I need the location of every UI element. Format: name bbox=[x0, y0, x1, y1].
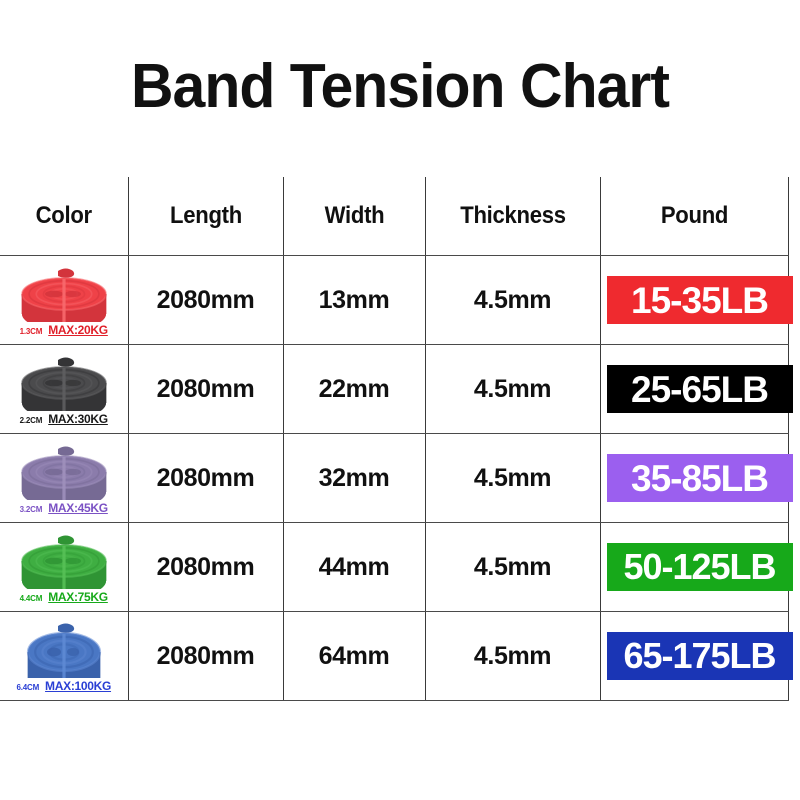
band-width-cm: 4.4CM bbox=[20, 594, 43, 603]
band-max-load: MAX:75KG bbox=[48, 590, 108, 604]
table-row: 1.3CM MAX:20KG 2080mm 13mm 4.5mm 15-35LB bbox=[0, 256, 788, 345]
band-illustration-blue bbox=[8, 620, 120, 678]
cell-thickness: 4.5mm bbox=[425, 345, 600, 434]
thickness-value: 4.5mm bbox=[426, 286, 600, 315]
column-header-pound-label: Pound bbox=[608, 202, 780, 230]
cell-width: 32mm bbox=[283, 434, 425, 523]
thickness-value: 4.5mm bbox=[426, 464, 600, 493]
width-value: 32mm bbox=[284, 464, 425, 493]
cell-color: 6.4CM MAX:100KG bbox=[0, 612, 128, 701]
column-header-length-label: Length bbox=[135, 202, 277, 230]
width-value: 44mm bbox=[284, 553, 425, 582]
thickness-value: 4.5mm bbox=[426, 553, 600, 582]
band-max-load: MAX:20KG bbox=[48, 323, 108, 337]
cell-length: 2080mm bbox=[128, 434, 283, 523]
band-size-label: 4.4CM MAX:75KG bbox=[20, 590, 108, 604]
band-size-label: 3.2CM MAX:45KG bbox=[20, 501, 108, 515]
pound-badge: 65-175LB bbox=[607, 632, 793, 680]
table-row: 2.2CM MAX:30KG 2080mm 22mm 4.5mm 25-65LB bbox=[0, 345, 788, 434]
band-illustration-green bbox=[8, 531, 120, 589]
column-header-thickness-label: Thickness bbox=[432, 202, 592, 230]
cell-length: 2080mm bbox=[128, 345, 283, 434]
table-row: 4.4CM MAX:75KG 2080mm 44mm 4.5mm 50-125L… bbox=[0, 523, 788, 612]
band-tension-chart-page: Band Tension Chart Color Length Width Th… bbox=[0, 0, 800, 800]
length-value: 2080mm bbox=[129, 375, 283, 404]
pound-badge: 25-65LB bbox=[607, 365, 793, 413]
column-header-length: Length bbox=[128, 177, 283, 256]
length-value: 2080mm bbox=[129, 642, 283, 671]
length-value: 2080mm bbox=[129, 464, 283, 493]
cell-pound: 50-125LB bbox=[600, 523, 788, 612]
cell-thickness: 4.5mm bbox=[425, 612, 600, 701]
band-illustration-red bbox=[8, 264, 120, 322]
cell-color: 2.2CM MAX:30KG bbox=[0, 345, 128, 434]
cell-width: 44mm bbox=[283, 523, 425, 612]
cell-pound: 15-35LB bbox=[600, 256, 788, 345]
width-value: 64mm bbox=[284, 642, 425, 671]
band-swatch-green: 4.4CM MAX:75KG bbox=[0, 531, 128, 604]
column-header-thickness: Thickness bbox=[425, 177, 600, 256]
thickness-value: 4.5mm bbox=[426, 375, 600, 404]
band-max-load: MAX:100KG bbox=[45, 679, 111, 693]
band-size-label: 6.4CM MAX:100KG bbox=[16, 679, 111, 693]
cell-thickness: 4.5mm bbox=[425, 434, 600, 523]
table-row: 3.2CM MAX:45KG 2080mm 32mm 4.5mm 35-85LB bbox=[0, 434, 788, 523]
cell-length: 2080mm bbox=[128, 256, 283, 345]
column-header-width: Width bbox=[283, 177, 425, 256]
cell-length: 2080mm bbox=[128, 612, 283, 701]
band-swatch-black: 2.2CM MAX:30KG bbox=[0, 353, 128, 426]
band-width-cm: 6.4CM bbox=[16, 683, 39, 692]
cell-pound: 35-85LB bbox=[600, 434, 788, 523]
band-width-cm: 1.3CM bbox=[20, 327, 43, 336]
column-header-width-label: Width bbox=[289, 202, 419, 230]
cell-width: 13mm bbox=[283, 256, 425, 345]
band-width-cm: 2.2CM bbox=[20, 416, 43, 425]
band-illustration-black bbox=[8, 353, 120, 411]
cell-width: 22mm bbox=[283, 345, 425, 434]
table-header-row: Color Length Width Thickness Pound bbox=[0, 177, 788, 256]
band-illustration-purple bbox=[8, 442, 120, 500]
band-swatch-red: 1.3CM MAX:20KG bbox=[0, 264, 128, 337]
column-header-pound: Pound bbox=[600, 177, 788, 256]
cell-pound: 65-175LB bbox=[600, 612, 788, 701]
band-max-load: MAX:45KG bbox=[48, 501, 108, 515]
column-header-color: Color bbox=[0, 177, 128, 256]
cell-pound: 25-65LB bbox=[600, 345, 788, 434]
band-size-label: 2.2CM MAX:30KG bbox=[20, 412, 108, 426]
band-max-load: MAX:30KG bbox=[48, 412, 108, 426]
column-header-color-label: Color bbox=[5, 202, 122, 230]
width-value: 13mm bbox=[284, 286, 425, 315]
table-row: 6.4CM MAX:100KG 2080mm 64mm 4.5mm 65-175… bbox=[0, 612, 788, 701]
length-value: 2080mm bbox=[129, 553, 283, 582]
band-swatch-blue: 6.4CM MAX:100KG bbox=[0, 620, 128, 693]
pound-badge: 35-85LB bbox=[607, 454, 793, 502]
cell-thickness: 4.5mm bbox=[425, 256, 600, 345]
cell-width: 64mm bbox=[283, 612, 425, 701]
band-specs-table: Color Length Width Thickness Pound bbox=[0, 177, 789, 701]
pound-badge: 15-35LB bbox=[607, 276, 793, 324]
table-body: 1.3CM MAX:20KG 2080mm 13mm 4.5mm 15-35LB bbox=[0, 256, 788, 701]
band-swatch-purple: 3.2CM MAX:45KG bbox=[0, 442, 128, 515]
band-width-cm: 3.2CM bbox=[20, 505, 43, 514]
band-size-label: 1.3CM MAX:20KG bbox=[20, 323, 108, 337]
length-value: 2080mm bbox=[129, 286, 283, 315]
cell-thickness: 4.5mm bbox=[425, 523, 600, 612]
cell-length: 2080mm bbox=[128, 523, 283, 612]
thickness-value: 4.5mm bbox=[426, 642, 600, 671]
cell-color: 4.4CM MAX:75KG bbox=[0, 523, 128, 612]
pound-badge: 50-125LB bbox=[607, 543, 793, 591]
cell-color: 1.3CM MAX:20KG bbox=[0, 256, 128, 345]
page-title: Band Tension Chart bbox=[20, 56, 780, 118]
width-value: 22mm bbox=[284, 375, 425, 404]
cell-color: 3.2CM MAX:45KG bbox=[0, 434, 128, 523]
